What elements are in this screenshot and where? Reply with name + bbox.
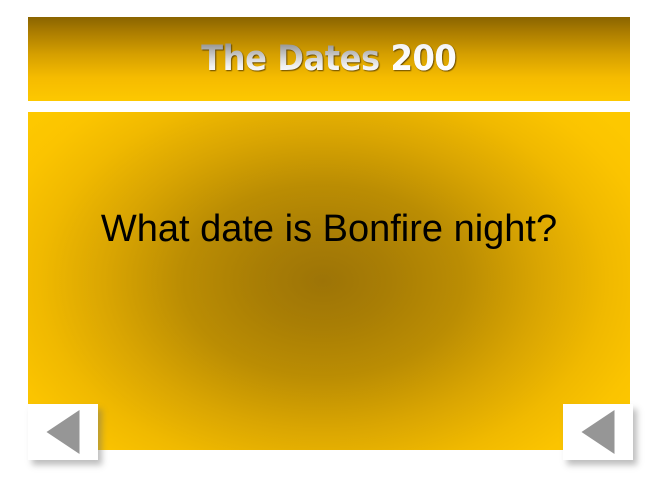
- triangle-left-icon: [47, 410, 80, 454]
- triangle-left-icon: [582, 410, 615, 454]
- slide-title-bar: The Dates 200: [28, 17, 630, 101]
- slide-title: The Dates 200: [201, 42, 456, 77]
- next-slide-button[interactable]: [563, 404, 633, 460]
- slide-body-panel: What date is Bonfire night?: [28, 112, 630, 450]
- slide-title-category: The Dates: [201, 39, 380, 79]
- slide-title-points: 200: [391, 39, 457, 79]
- previous-slide-button[interactable]: [28, 404, 98, 460]
- question-text: What date is Bonfire night?: [28, 112, 630, 450]
- quiz-slide: The Dates 200 What date is Bonfire night…: [0, 0, 657, 493]
- slide-title-spacer: [380, 39, 391, 79]
